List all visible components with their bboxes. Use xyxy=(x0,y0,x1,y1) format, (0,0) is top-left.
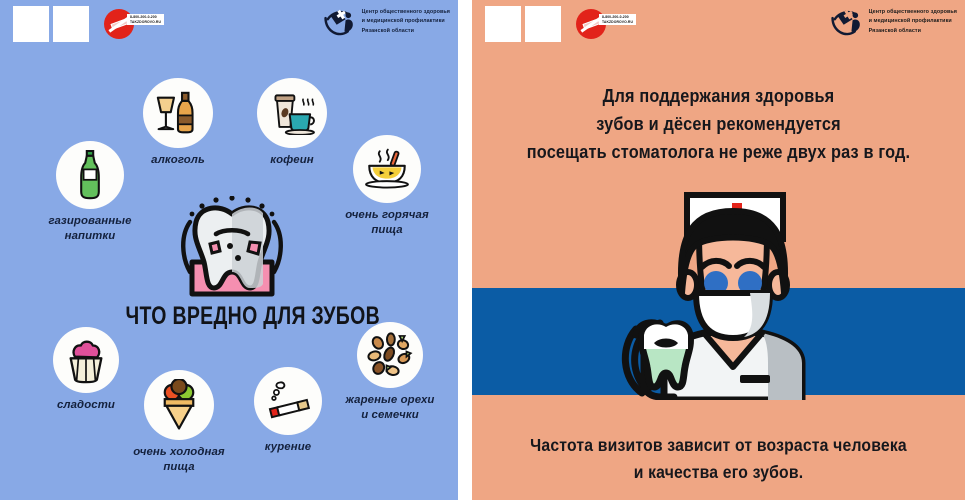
health-center-logo-icon xyxy=(323,7,357,37)
item-alcohol-label: алкоголь xyxy=(126,153,230,168)
org-logo-right: Центр общественного здоровья и медицинск… xyxy=(830,7,957,37)
heading-line-3: посещать стоматолога не реже двух раз в … xyxy=(514,138,923,166)
item-nuts: жареные орехи и семечки xyxy=(330,322,450,423)
item-cold-food-disc xyxy=(144,370,214,440)
qr-code-3[interactable] xyxy=(485,6,521,42)
poster-board: 8-800-200-0-200 TAKZDOROVO.RU xyxy=(0,0,965,500)
org-name-line-1: Центр общественного здоровья xyxy=(362,8,450,17)
item-hot-food-label: очень горячая пища xyxy=(326,208,448,238)
org-name-right: Центр общественного здоровья и медицинск… xyxy=(869,8,957,36)
cupcake-icon xyxy=(63,336,109,384)
footer-line-2: и качества его зубов. xyxy=(509,459,928,486)
item-nuts-label: жареные орехи и семечки xyxy=(330,393,450,423)
right-panel-heading: Для поддержания здоровья зубов и дёсен р… xyxy=(486,82,951,165)
item-smoking-disc xyxy=(254,367,322,435)
org-logo-left: Центр общественного здоровья и медицинск… xyxy=(323,7,450,37)
damaged-tooth-graphic xyxy=(176,196,288,300)
qr-code-4[interactable] xyxy=(525,6,561,42)
left-header-strip: 8-800-200-0-200 TAKZDOROVO.RU xyxy=(0,0,458,48)
hot-soup-icon xyxy=(362,148,412,190)
org-name-line-2: и медицинской профилактики xyxy=(362,17,450,26)
soda-bottle-icon xyxy=(74,150,106,200)
item-cold-food: очень холодная пища xyxy=(118,370,240,475)
item-sweets-disc xyxy=(53,327,119,393)
item-caffeine-disc xyxy=(257,78,327,148)
footer-line-1: Частота визитов зависит от возраста чело… xyxy=(509,432,928,459)
right-panel-footer: Частота визитов зависит от возраста чело… xyxy=(486,432,951,486)
left-poster-panel: 8-800-200-0-200 TAKZDOROVO.RU xyxy=(0,0,458,500)
heading-line-2: зубов и дёсен рекомендуется xyxy=(514,110,923,138)
qr-code-1[interactable] xyxy=(13,6,49,42)
ice-cream-icon xyxy=(158,379,200,431)
item-soda-label: газированные напитки xyxy=(27,214,153,244)
hotline-site-right: TAKZDOROVO.RU xyxy=(602,20,633,25)
hotline-phone: 8-800-200-0-200 xyxy=(130,15,161,20)
alcohol-icon xyxy=(153,91,203,135)
item-soda-disc xyxy=(56,141,124,209)
hotline-site: TAKZDOROVO.RU xyxy=(130,20,161,25)
org-name-line-3: Рязанской области xyxy=(362,27,450,36)
nuts-seeds-icon xyxy=(364,329,416,381)
cigarette-icon xyxy=(264,380,312,423)
hotline-badge-text-right: 8-800-200-0-200 TAKZDOROVO.RU xyxy=(599,14,636,25)
heading-line-1: Для поддержания здоровья xyxy=(514,82,923,110)
health-center-logo-icon-right xyxy=(830,7,864,37)
item-nuts-disc xyxy=(357,322,423,388)
dentist-illustration xyxy=(592,175,874,400)
org-name-left: Центр общественного здоровья и медицинск… xyxy=(362,8,450,36)
hotline-phone-right: 8-800-200-0-200 xyxy=(602,15,633,20)
item-cold-food-label: очень холодная пища xyxy=(118,445,240,475)
item-smoking: курение xyxy=(243,367,333,455)
item-smoking-label: курение xyxy=(243,440,333,455)
left-panel-title: ЧТО ВРЕДНО ДЛЯ ЗУБОВ xyxy=(96,294,364,338)
qr-code-2[interactable] xyxy=(53,6,89,42)
item-alcohol-disc xyxy=(143,78,213,148)
coffee-icon xyxy=(266,92,318,135)
item-hot-food: очень горячая пища xyxy=(326,135,448,238)
right-header-strip: 8-800-200-0-200 TAKZDOROVO.RU xyxy=(472,0,965,48)
hotline-badge-text: 8-800-200-0-200 TAKZDOROVO.RU xyxy=(127,14,164,25)
right-poster-panel: 8-800-200-0-200 TAKZDOROVO.RU xyxy=(472,0,965,500)
item-alcohol: алкоголь xyxy=(126,78,230,168)
item-hot-food-disc xyxy=(353,135,421,203)
